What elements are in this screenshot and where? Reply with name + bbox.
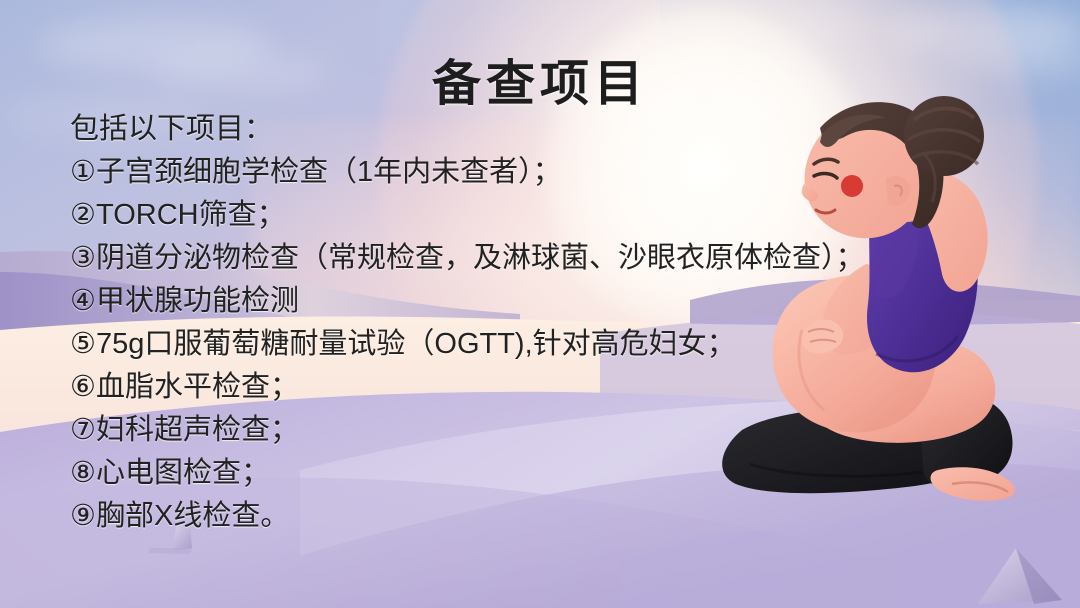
text-line-item-9: ⑨胸部X线检查。 xyxy=(70,495,1000,538)
text-line-item-1: ①子宫颈细胞学检查（1年内未查者）； xyxy=(70,151,1000,194)
page-title: 备查项目 xyxy=(0,44,1080,115)
text-line-item-4: ④甲状腺功能检测 xyxy=(70,280,1000,323)
text-line-item-7: ⑦妇科超声检查； xyxy=(70,409,1000,452)
rock-small-left-shadow xyxy=(148,548,192,554)
text-line-item-6: ⑥血脂水平检查； xyxy=(70,366,1000,409)
text-line-item-3: ③阴道分泌物检查（常规检查，及淋球菌、沙眼衣原体检查）； xyxy=(70,237,1000,280)
body-text-block: 包括以下项目： ①子宫颈细胞学检查（1年内未查者）； ②TORCH筛查； ③阴道… xyxy=(70,108,1000,538)
text-line-item-2: ②TORCH筛查； xyxy=(70,194,1000,237)
slide-canvas: 备查项目 包括以下项目： ①子宫颈细胞学检查（1年内未查者）； ②TORCH筛查… xyxy=(0,0,1080,608)
text-line-item-8: ⑧心电图检查； xyxy=(70,452,1000,495)
text-line-intro: 包括以下项目： xyxy=(70,108,1000,151)
text-line-item-5: ⑤75g口服葡萄糖耐量试验（OGTT),针对高危妇女； xyxy=(70,323,1000,366)
